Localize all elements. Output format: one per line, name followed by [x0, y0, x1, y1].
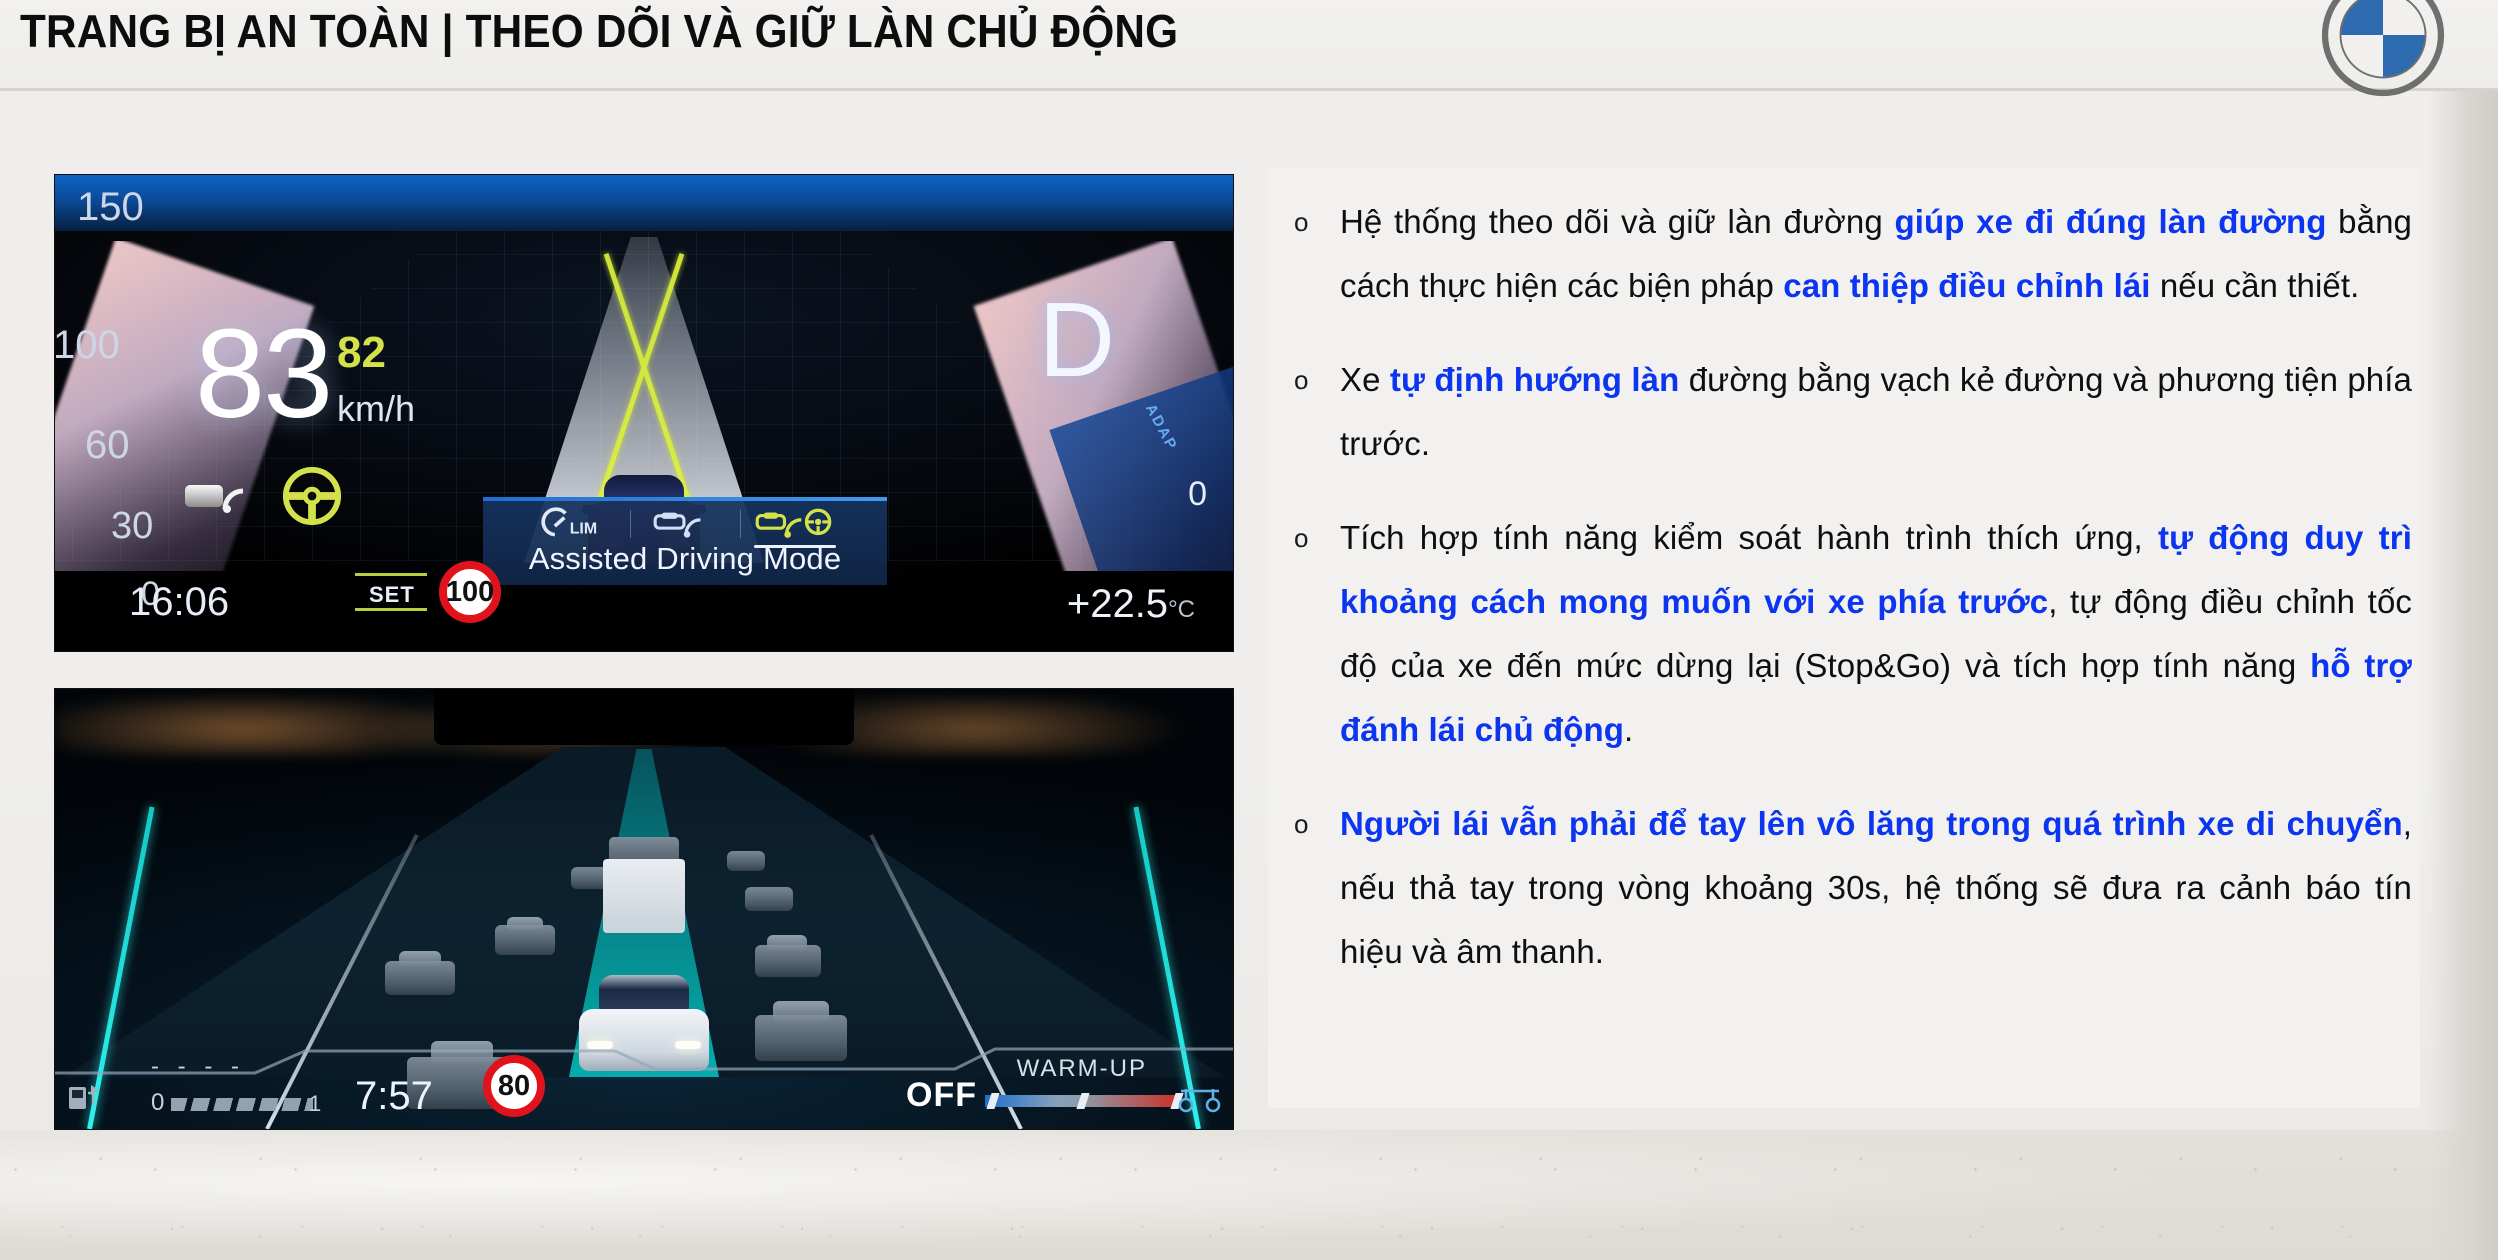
hands-on-wheel-icon: [183, 475, 261, 519]
set-indicator: SET: [355, 570, 435, 614]
plain-phrase: Tích hợp tính năng kiểm soát hành trình …: [1340, 519, 2158, 556]
bullet-item: oNgười lái vẫn phải để tay lên vô lăng t…: [1282, 792, 2412, 984]
warmup-label: WARM-UP: [1017, 1055, 1147, 1083]
bullet-item: oHệ thống theo dõi và giữ làn đường giúp…: [1282, 190, 2412, 318]
bullet-text: Hệ thống theo dõi và giữ làn đường giúp …: [1340, 190, 2412, 318]
cluster-clock-bottom: 7:57: [355, 1074, 433, 1119]
bmw-logo-icon: [2320, 0, 2446, 98]
assisted-driving-mode-panel: LIM: [483, 497, 887, 585]
traffic-vehicle: [773, 1001, 829, 1023]
temperature-value: +22.5: [1067, 582, 1168, 626]
tick-30: 30: [111, 505, 153, 548]
traffic-vehicle: [399, 951, 441, 967]
outside-temperature: +22.5°C: [1067, 582, 1195, 627]
fuel-min-label: 0: [151, 1089, 164, 1117]
highlighted-phrase: tự định hướng làn: [1390, 361, 1679, 398]
bullet-item: oXe tự định hướng làn đường bằng vạch kẻ…: [1282, 348, 2412, 476]
fuel-pump-icon: [67, 1083, 101, 1113]
adaptive-cruise-icon[interactable]: [630, 505, 740, 543]
adm-icon-row: LIM: [483, 503, 887, 545]
description-panel: oHệ thống theo dõi và giữ làn đường giúp…: [1268, 168, 2420, 1108]
status-off-label: OFF: [906, 1076, 977, 1115]
traffic-vehicle: [767, 935, 807, 951]
bullet-marker: o: [1282, 348, 1340, 476]
cluster-clock-top: 16:06: [129, 580, 229, 625]
image-traffic-jam-assist-cluster: 0 mph 0 km/h A: [54, 688, 1234, 1130]
bullet-list: oHệ thống theo dõi và giữ làn đường giúp…: [1282, 190, 2412, 984]
bullet-text: Người lái vẫn phải để tay lên vô lăng tr…: [1340, 792, 2412, 984]
highlighted-phrase: Người lái vẫn phải để tay lên vô lăng tr…: [1340, 805, 2403, 842]
plain-phrase: Hệ thống theo dõi và giữ làn đường: [1340, 203, 1894, 240]
plain-phrase: .: [1624, 711, 1633, 748]
header-divider: [0, 88, 2498, 91]
adm-accent-bar: [483, 497, 887, 501]
set-label: SET: [369, 582, 415, 608]
bullet-marker: o: [1282, 190, 1340, 318]
cluster-scene-top: ADAP 150 100 60 30 0 0 D 83 82 km/h: [55, 175, 1233, 651]
cluster-sky-band: [55, 175, 1233, 231]
bullet-text: Tích hợp tính năng kiểm soát hành trình …: [1340, 506, 2412, 762]
slide-header: TRANG BỊ AN TOÀN | THEO DÕI VÀ GIỮ LÀN C…: [0, 0, 2498, 88]
speed-unit: km/h: [337, 391, 415, 427]
lane-keeping-steering-icon[interactable]: [740, 505, 850, 543]
bullet-marker: o: [1282, 792, 1340, 984]
speed-limiter-lim-icon[interactable]: LIM: [520, 505, 630, 543]
cluster-top-mask: [434, 689, 854, 745]
lead-truck-graphic: [603, 837, 685, 933]
set-bar-bottom: [355, 608, 427, 611]
fuel-level-bar: [171, 1098, 313, 1111]
speed-limit-value-bottom: 80: [483, 1055, 545, 1117]
traffic-vehicle: [745, 887, 793, 911]
ego-vehicle-roof: [599, 975, 689, 1011]
suspension-icon: [1177, 1085, 1223, 1113]
tick-150: 150: [77, 185, 144, 230]
bullet-text: Xe tự định hướng làn đường bằng vạch kẻ …: [1340, 348, 2412, 476]
tick-60: 60: [85, 423, 130, 468]
fuel-max-label: 1: [309, 1091, 321, 1117]
cluster-scene-bottom: 0 mph 0 km/h A: [55, 689, 1233, 1129]
speed-secondary-readout: 82: [337, 331, 386, 375]
plain-phrase: nếu cần thiết.: [2151, 267, 2360, 304]
traffic-vehicle: [507, 917, 543, 931]
temperature-unit: °C: [1168, 596, 1195, 623]
image-assisted-driving-cluster: ADAP 150 100 60 30 0 0 D 83 82 km/h: [54, 174, 1234, 652]
set-speed-group: SET 100: [355, 561, 501, 623]
slide-right-shade: [2428, 0, 2498, 1260]
svg-text:LIM: LIM: [570, 521, 597, 538]
gear-indicator: D: [1038, 287, 1115, 393]
set-bar-top: [355, 573, 427, 576]
range-dashes: - - - -: [151, 1053, 245, 1081]
plain-phrase: Xe: [1340, 361, 1390, 398]
slide-floor-texture: [0, 1130, 2498, 1260]
page-title: TRANG BỊ AN TOÀN | THEO DÕI VÀ GIỮ LÀN C…: [20, 4, 1178, 58]
highlighted-phrase: giúp xe đi đúng làn đường: [1894, 203, 2326, 240]
media-column: ADAP 150 100 60 30 0 0 D 83 82 km/h: [54, 174, 1234, 1130]
tick-100: 100: [54, 323, 120, 368]
traffic-vehicle: [727, 851, 765, 871]
speed-limit-sign-bottom: 80: [483, 1055, 545, 1117]
tick-0-right: 0: [1188, 475, 1207, 514]
highlighted-phrase: can thiệp điều chỉnh lái: [1783, 267, 2150, 304]
steering-wheel-icon: [281, 465, 343, 527]
speed-limit-sign-top: 100: [439, 561, 501, 623]
speed-readout: 83: [195, 311, 331, 437]
bullet-item: oTích hợp tính năng kiểm soát hành trình…: [1282, 506, 2412, 762]
bullet-marker: o: [1282, 506, 1340, 762]
assisted-driving-mode-label: Assisted Driving Mode: [483, 541, 887, 577]
cluster-status-strip: - - - - 0 1 7:57 80 OFF WARM-UP: [55, 1059, 1233, 1129]
lead-truck-body: [603, 859, 685, 933]
